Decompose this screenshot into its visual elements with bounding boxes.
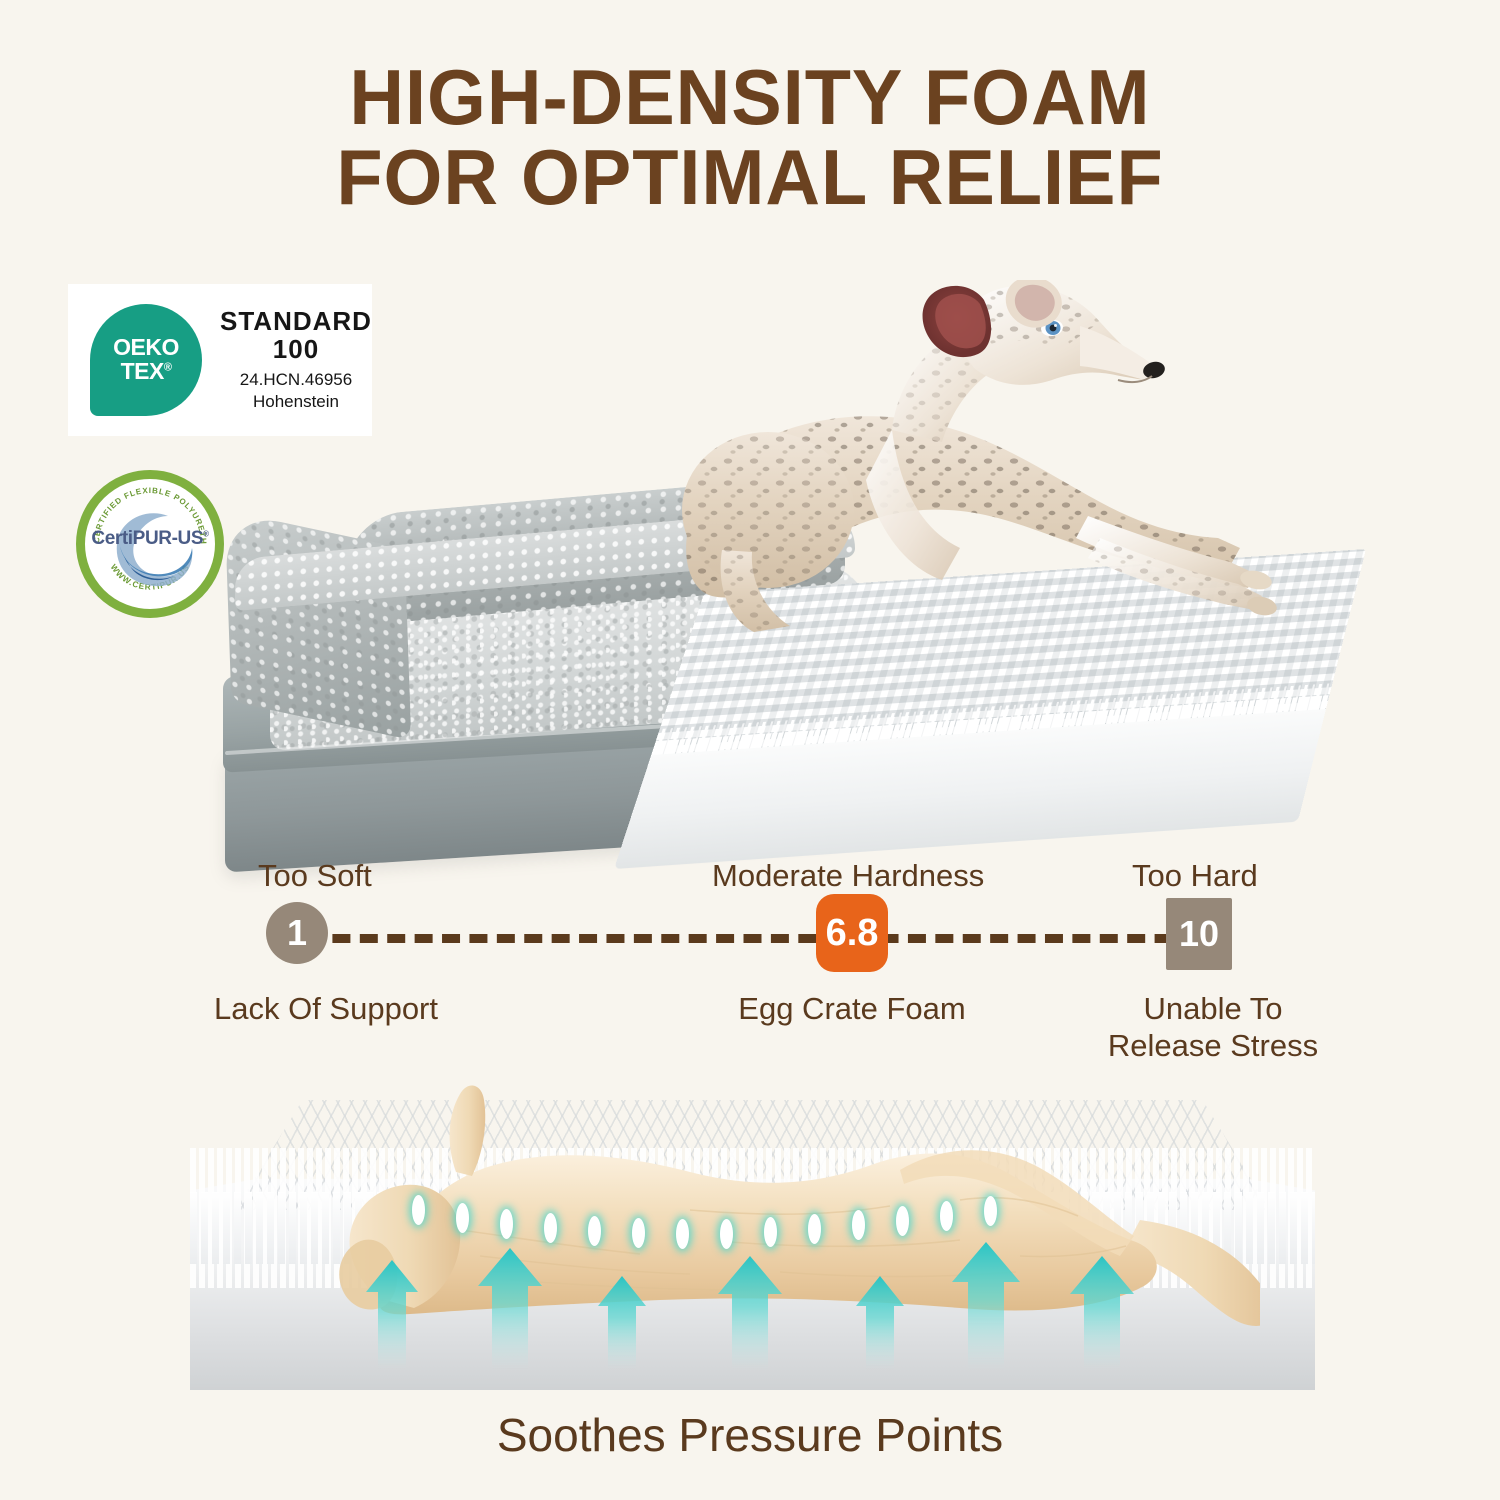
oeko-tex-mark-icon: OEKO TEX® — [90, 304, 202, 416]
oeko-tex-text-block: STANDARD 100 24.HCN.46956 Hohenstein — [220, 307, 372, 413]
arrow-2 — [478, 1248, 542, 1370]
scale-bottom-label-left: Lack Of Support — [196, 990, 456, 1027]
hardness-scale: Too Soft Moderate Hardness Too Hard 1 6.… — [0, 858, 1500, 1058]
certipur-us-badge[interactable]: CONTAINS CERTIFIED FLEXIBLE POLYURETHANE… — [76, 470, 224, 618]
arrow-5 — [856, 1276, 904, 1370]
scale-bottom-label-right-line1: Unable To — [1070, 990, 1356, 1027]
oeko-mark-line-1: OEKO — [113, 336, 179, 359]
scale-node-min[interactable]: 1 — [266, 902, 328, 964]
arrow-4 — [718, 1256, 782, 1370]
arrow-3 — [598, 1276, 646, 1370]
arrow-6 — [952, 1242, 1020, 1370]
oeko-standard-label: STANDARD — [220, 307, 372, 335]
headline-line-1: HIGH-DENSITY FOAM — [23, 58, 1478, 138]
scale-top-label-right: Too Hard — [1132, 858, 1258, 894]
oeko-standard-number: 100 — [220, 335, 372, 363]
scale-node-value[interactable]: 6.8 — [816, 894, 888, 972]
oeko-tex-badge[interactable]: OEKO TEX® STANDARD 100 24.HCN.46956 Hohe… — [68, 284, 372, 436]
bottom-caption: Soothes Pressure Points — [0, 1408, 1500, 1462]
scale-dashed-line — [305, 934, 1200, 943]
scale-bottom-label-middle: Egg Crate Foam — [722, 990, 982, 1027]
infographic-canvas: HIGH-DENSITY FOAM FOR OPTIMAL RELIEF — [0, 0, 1500, 1500]
certipur-wordmark: CertiPUR-US® — [91, 528, 208, 550]
scale-node-max[interactable]: 10 — [1166, 898, 1232, 970]
oeko-mark-line-2: TEX® — [121, 359, 172, 383]
page-title: HIGH-DENSITY FOAM FOR OPTIMAL RELIEF — [23, 58, 1478, 217]
pressure-relief-arrows — [190, 1070, 1315, 1400]
product-photo-bottom — [190, 1070, 1315, 1400]
whippet-dog-illustration — [540, 280, 1280, 710]
scale-bottom-label-right-line2: Release Stress — [1070, 1027, 1356, 1064]
scale-top-label-left: Too Soft — [258, 858, 372, 894]
oeko-certificate-number: 24.HCN.46956 — [220, 370, 372, 391]
headline-line-2: FOR OPTIMAL RELIEF — [23, 138, 1478, 218]
bed-bolster-side — [225, 510, 412, 740]
scale-bottom-label-right: Unable To Release Stress — [1070, 990, 1356, 1064]
arrow-1 — [366, 1260, 418, 1370]
scale-top-label-middle: Moderate Hardness — [712, 858, 984, 894]
oeko-institute: Hohenstein — [220, 392, 372, 413]
arrow-7 — [1070, 1256, 1134, 1370]
